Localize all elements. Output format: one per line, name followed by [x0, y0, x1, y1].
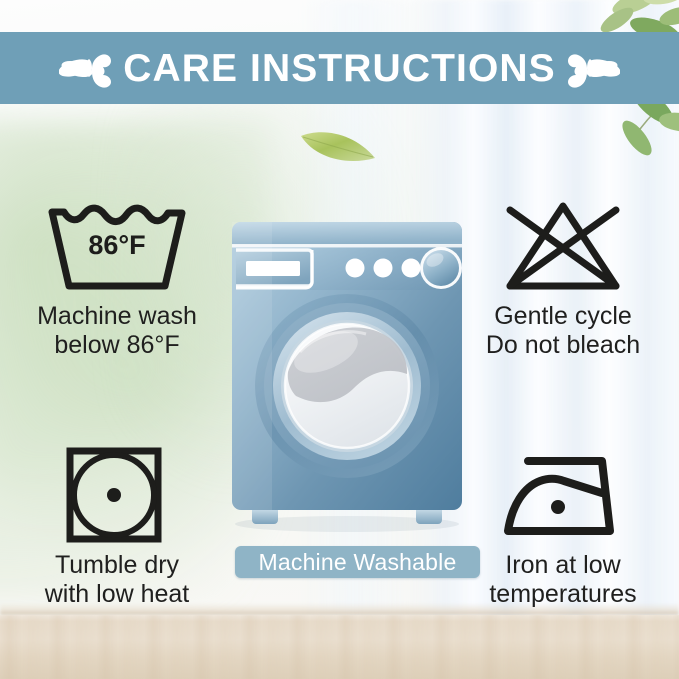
symbol-label-line1: Machine wash — [8, 302, 226, 331]
symbol-label-line2: temperatures — [452, 580, 674, 609]
care-instructions-graphic: CARE INSTRUCTIONS — [0, 0, 679, 679]
floating-leaf-icon — [295, 124, 381, 168]
iron-one-dot-icon — [490, 445, 636, 545]
symbol-label-line1: Tumble dry — [8, 551, 226, 580]
control-button — [346, 259, 365, 278]
fleur-de-lis-icon — [59, 45, 117, 91]
crossed-triangle-icon — [490, 196, 636, 296]
wash-tub-icon: 86°F — [44, 196, 190, 296]
wood-table-surface — [0, 615, 679, 679]
care-symbol-machine-wash: 86°F Machine wash below 86°F — [8, 196, 226, 359]
header-banner: CARE INSTRUCTIONS — [0, 32, 679, 104]
symbol-label-line2: with low heat — [8, 580, 226, 609]
page-title: CARE INSTRUCTIONS — [117, 49, 562, 88]
wash-temperature-value: 86°F — [88, 230, 145, 260]
symbol-label-line1: Gentle cycle — [452, 302, 674, 331]
tumble-dry-low-icon — [44, 445, 190, 545]
care-symbol-do-not-bleach: Gentle cycle Do not bleach — [452, 196, 674, 359]
care-symbol-tumble-dry: Tumble dry with low heat — [8, 445, 226, 608]
control-button — [374, 259, 393, 278]
machine-washable-badge: Machine Washable — [235, 546, 480, 578]
badge-label: Machine Washable — [259, 551, 457, 574]
washing-machine-illustration — [226, 206, 468, 536]
symbol-label-line2: Do not bleach — [452, 331, 674, 360]
symbol-label-line2: below 86°F — [8, 331, 226, 360]
control-button — [402, 259, 421, 278]
care-symbol-iron-low: Iron at low temperatures — [452, 445, 674, 608]
fleur-de-lis-icon — [562, 45, 620, 91]
symbol-label-line1: Iron at low — [452, 551, 674, 580]
